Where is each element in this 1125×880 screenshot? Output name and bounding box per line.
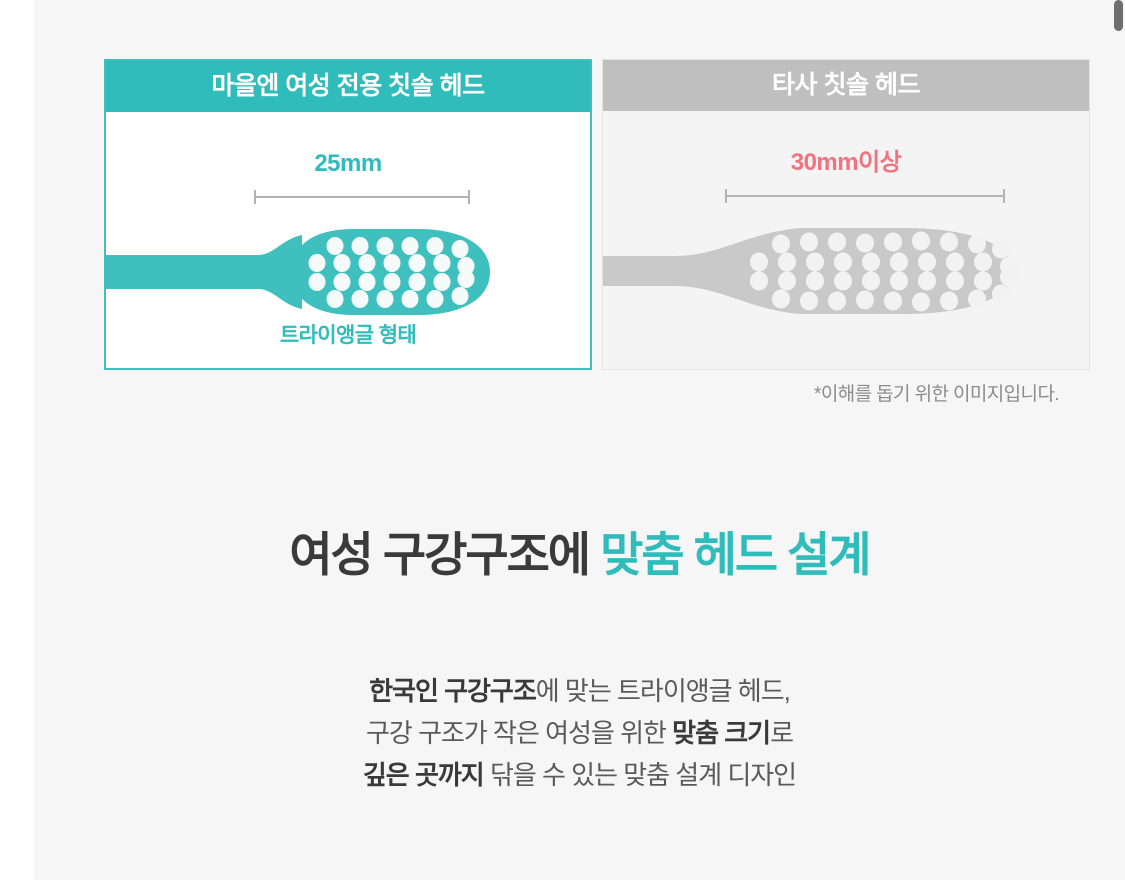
body-copy-line-3-bold: 깊은 곳까지 [363, 760, 484, 790]
headline-part-teal: 맞춤 헤드 설계 [600, 528, 870, 581]
body-copy-line-1-bold: 한국인 구강구조 [369, 676, 536, 706]
measurement-rule-own [254, 190, 470, 204]
page-headline: 여성 구강구조에 맞춤 헤드 설계 [34, 531, 1125, 578]
page-root: 마을엔 여성 전용 칫솔 헤드 25mm [0, 0, 1125, 880]
card-header-label-own: 마을엔 여성 전용 칫솔 헤드 [211, 74, 484, 99]
comparison-row: 마을엔 여성 전용 칫솔 헤드 25mm [104, 59, 1093, 370]
measure-cap-end-icon [468, 190, 470, 204]
body-copy-line-2-rest: 로 [770, 718, 793, 748]
card-other-brush-head: 타사 칫솔 헤드 30mm이상 [602, 59, 1090, 370]
footnote-text: *이해를 돕기 위한 이미지입니다. [814, 385, 1059, 404]
body-copy: 한국인 구강구조에 맞는 트라이앵글 헤드, 구강 구조가 작은 여성을 위한 … [34, 670, 1125, 796]
body-copy-line-2-pre: 구강 구조가 작은 여성을 위한 [366, 718, 672, 748]
card-header-label-other: 타사 칫솔 헤드 [772, 73, 920, 98]
shape-caption-own: 트라이앵글 형태 [106, 325, 590, 346]
card-body-own: 25mm [106, 112, 590, 370]
toothbrush-head-own-icon [106, 217, 590, 327]
measure-bar [725, 195, 1005, 197]
body-copy-line-2-bold: 맞춤 크기 [672, 718, 770, 748]
content-area: 마을엔 여성 전용 칫솔 헤드 25mm [34, 0, 1125, 880]
card-own-brush-head: 마을엔 여성 전용 칫솔 헤드 25mm [104, 59, 592, 370]
body-copy-line-3-rest: 닦을 수 있는 맞춤 설계 디자인 [484, 760, 796, 790]
measurement-label-own: 25mm [106, 152, 590, 176]
body-copy-line-2: 구강 구조가 작은 여성을 위한 맞춤 크기로 [34, 712, 1125, 754]
body-copy-line-1-rest: 에 맞는 트라이앵글 헤드, [536, 676, 790, 706]
card-body-other: 30mm이상 [603, 111, 1089, 369]
card-header-own: 마을엔 여성 전용 칫솔 헤드 [106, 61, 590, 112]
body-copy-line-3: 깊은 곳까지 닦을 수 있는 맞춤 설계 디자인 [34, 754, 1125, 796]
body-copy-line-1: 한국인 구강구조에 맞는 트라이앵글 헤드, [34, 670, 1125, 712]
scrollbar-thumb[interactable] [1114, 0, 1123, 31]
measure-cap-end-icon [1003, 189, 1005, 203]
measurement-rule-other [725, 189, 1005, 203]
measure-bar [254, 196, 470, 198]
measurement-label-other: 30mm이상 [603, 151, 1089, 175]
toothbrush-head-other-icon [603, 216, 1089, 326]
headline-part-dark: 여성 구강구조에 [289, 528, 600, 581]
card-header-other: 타사 칫솔 헤드 [603, 60, 1089, 111]
scrollbar-track[interactable] [1113, 0, 1125, 880]
